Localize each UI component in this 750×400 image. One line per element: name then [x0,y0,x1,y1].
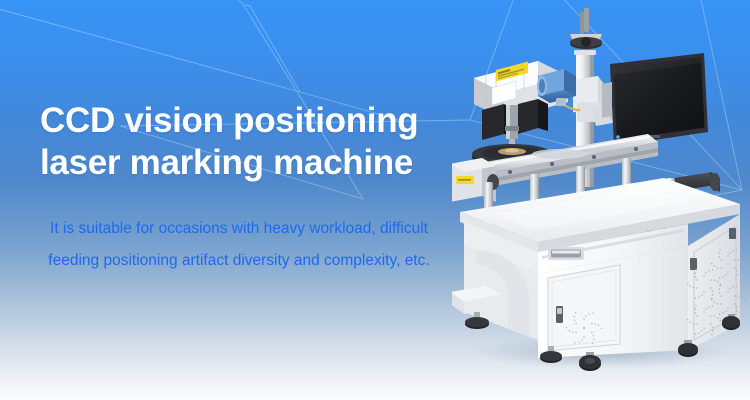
subtitle-line-1: It is suitable for occasions with heavy … [14,213,464,245]
deco-line-upper [245,5,300,92]
product-banner: CCD vision positioning laser marking mac… [0,0,750,400]
headline-line-1: CCD vision positioning [40,100,470,142]
drawer-handle[interactable] [548,247,584,260]
cabinet-door[interactable] [548,265,620,351]
headline-line-2: laser marking machine [40,142,470,184]
page-title: CCD vision positioning laser marking mac… [40,100,470,184]
side-latch-top [690,258,697,270]
page-subtitle: It is suitable for occasions with heavy … [14,213,464,277]
adjust-knob[interactable] [570,8,602,49]
side-latch-upper [729,228,736,239]
product-image [452,6,750,372]
work-plate [532,149,588,159]
power-led-icon [616,135,620,139]
subtitle-line-2: feeding positioning artifact diversity a… [14,245,464,277]
